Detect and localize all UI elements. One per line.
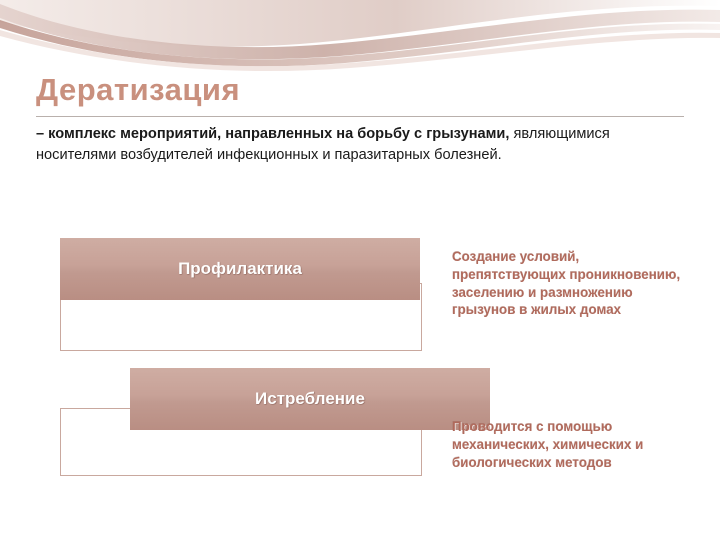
diagram-box-prevention-label: Профилактика [178,259,302,279]
note-prevention: Создание условий, препятствующих проникн… [452,248,692,319]
page-title: Дератизация [36,72,240,108]
diagram-box-extermination[interactable]: Истребление [130,368,490,430]
slide: Дератизация – комплекс мероприятий, напр… [0,0,720,540]
title-divider [36,116,684,117]
diagram-box-prevention[interactable]: Профилактика [60,238,420,300]
body-paragraph: – комплекс мероприятий, направленных на … [36,124,686,165]
body-lead: – комплекс мероприятий, направленных на … [36,126,509,142]
decorative-swoosh [0,0,720,80]
diagram-box-extermination-label: Истребление [255,389,365,409]
note-extermination: Проводится с помощью механических, химич… [452,418,690,471]
